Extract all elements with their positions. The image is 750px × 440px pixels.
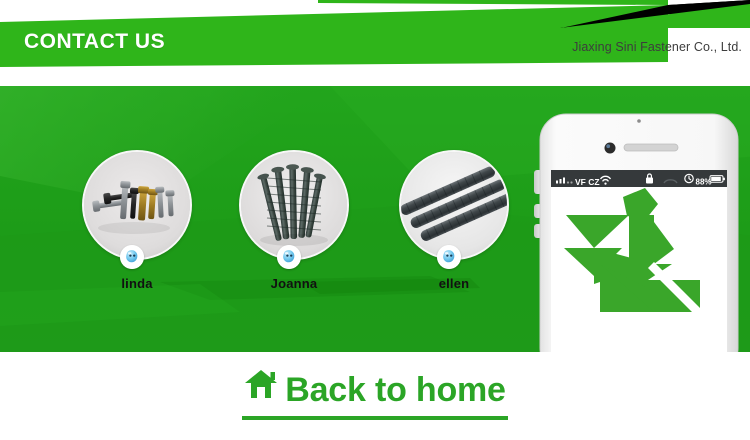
page-title: CONTACT US bbox=[24, 30, 165, 54]
trademanager-icon[interactable] bbox=[277, 245, 301, 269]
smartphone-graphic: VF CZ 88% bbox=[534, 112, 750, 352]
contact-banner: linda bbox=[0, 86, 750, 352]
contact-photo-linda[interactable] bbox=[82, 150, 192, 260]
phone-earpiece bbox=[624, 144, 678, 151]
threaded-rods-photo bbox=[401, 152, 507, 258]
home-icon-glyph bbox=[244, 368, 278, 400]
tangram-torso-square bbox=[629, 215, 654, 264]
contact-photo-joanna[interactable] bbox=[239, 150, 349, 260]
back-to-home-section: Back to home bbox=[0, 368, 750, 430]
contact-name-ellen: ellen bbox=[379, 276, 529, 291]
contact-name-joanna: Joanna bbox=[219, 276, 369, 291]
trademanager-icon[interactable] bbox=[437, 245, 461, 269]
back-to-home-link[interactable]: Back to home bbox=[242, 368, 508, 420]
trademanager-ghost-glyph bbox=[120, 245, 144, 269]
phone-battery-label: 88% bbox=[696, 178, 712, 187]
contact-us-page: CONTACT US Jiaxing Sini Fastener Co., Lt… bbox=[0, 0, 750, 440]
trademanager-icon[interactable] bbox=[120, 245, 144, 269]
smartphone-mockup: VF CZ 88% bbox=[534, 112, 750, 352]
phone-carrier-label: VF CZ bbox=[575, 177, 600, 187]
hex-bolts-and-anchors-photo bbox=[84, 152, 190, 258]
contact-name-linda: linda bbox=[62, 276, 212, 291]
back-to-home-label: Back to home bbox=[285, 368, 506, 412]
trademanager-ghost-glyph bbox=[437, 245, 461, 269]
company-name: Jiaxing Sini Fastener Co., Ltd. bbox=[572, 40, 742, 54]
trademanager-ghost-glyph bbox=[277, 245, 301, 269]
contact-photo-ellen[interactable] bbox=[399, 150, 509, 260]
home-icon bbox=[244, 368, 278, 405]
phone-top-mic bbox=[637, 119, 641, 123]
phone-front-camera bbox=[605, 143, 616, 154]
page-header: CONTACT US Jiaxing Sini Fastener Co., Lt… bbox=[0, 0, 750, 86]
drywall-screws-photo bbox=[241, 152, 347, 258]
